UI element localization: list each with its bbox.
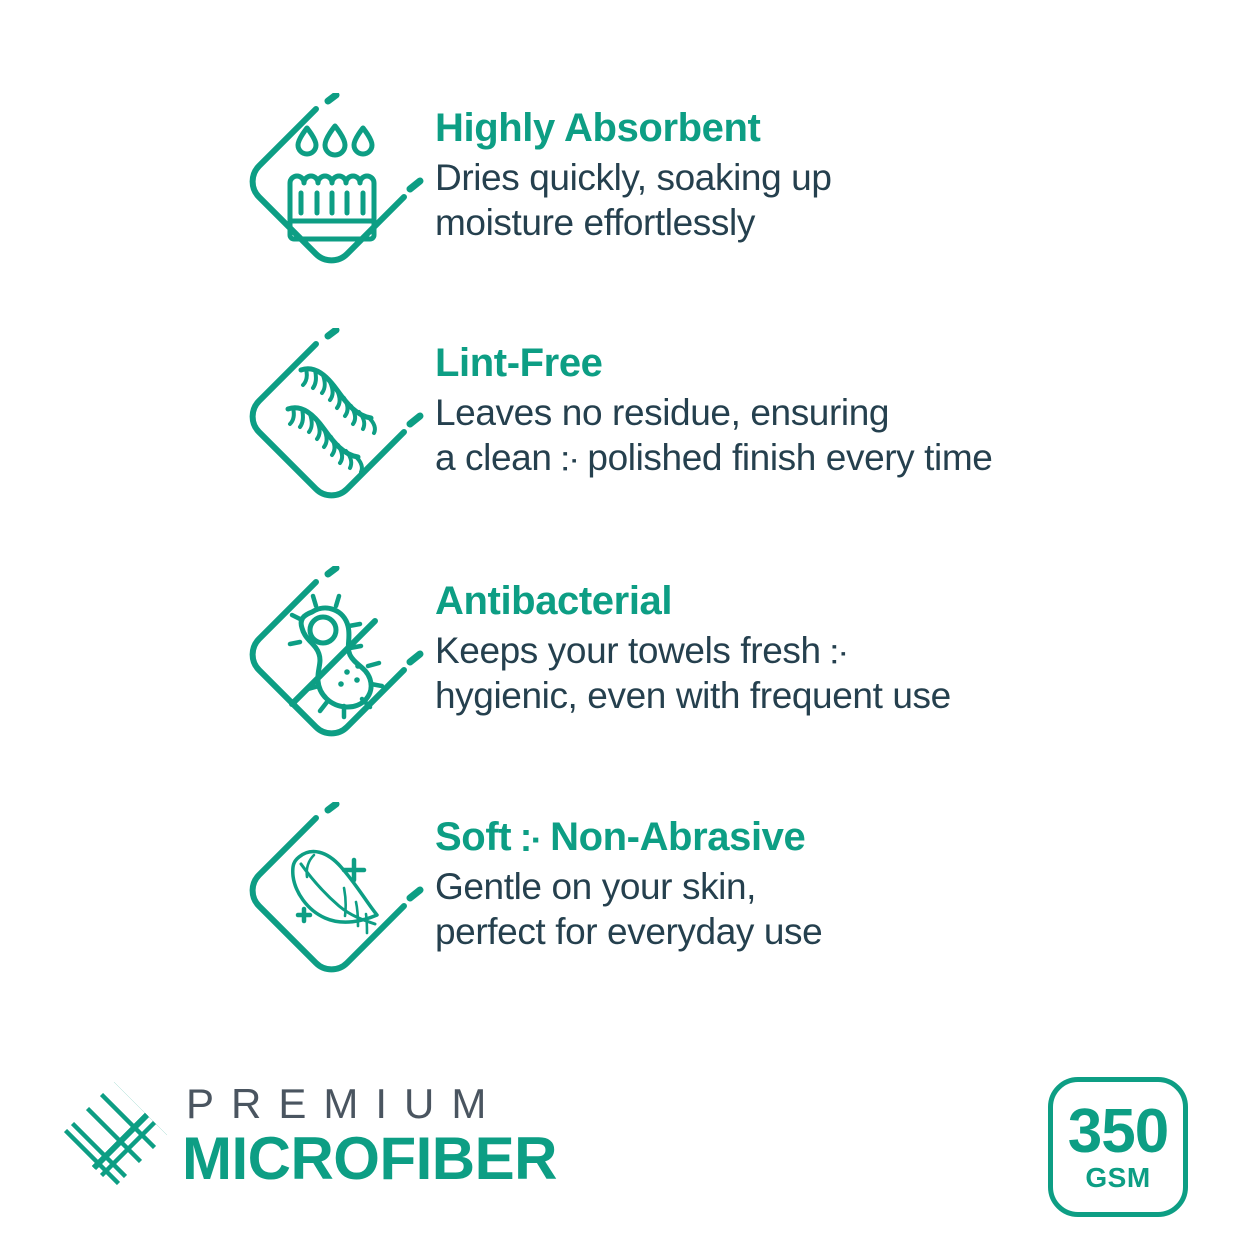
feature-item-soft-non-abrasive: Soft ჻ Non-Abrasive Gentle on your skin,… (244, 802, 822, 992)
feature-text-block: Lint-Free Leaves no residue, ensuring a … (435, 328, 992, 480)
feature-item-antibacterial: Antibacterial Keeps your towels fresh ჻ … (244, 566, 951, 756)
feature-description: Gentle on your skin, perfect for everyda… (435, 864, 822, 954)
feather-sparkle-icon (244, 802, 426, 992)
brand-wordmark: PREMIUM MICROFIBER (182, 1081, 557, 1189)
infographic-page: Highly Absorbent Dries quickly, soaking … (0, 0, 1260, 1260)
gsm-badge: 350 GSM (1048, 1077, 1188, 1217)
absorbent-towel-droplets-icon (244, 93, 426, 283)
feature-item-highly-absorbent: Highly Absorbent Dries quickly, soaking … (244, 93, 832, 283)
feature-title: Soft ჻ Non-Abrasive (435, 812, 822, 862)
feature-title: Antibacterial (435, 576, 951, 626)
feature-description: Keeps your towels fresh ჻ hygienic, even… (435, 628, 951, 718)
feature-text-block: Antibacterial Keeps your towels fresh ჻ … (435, 566, 951, 718)
gsm-value: 350 (1068, 1103, 1168, 1161)
feature-text-block: Soft ჻ Non-Abrasive Gentle on your skin,… (435, 802, 822, 954)
bacteria-crossed-out-icon (244, 566, 426, 756)
feature-title: Lint-Free (435, 338, 992, 388)
woven-diamond-mesh-icon (58, 1079, 170, 1191)
feature-title: Highly Absorbent (435, 103, 832, 153)
brand-microfiber-text: MICROFIBER (182, 1129, 557, 1189)
brand-lockup: PREMIUM MICROFIBER (58, 1079, 557, 1191)
gsm-unit-label: GSM (1085, 1164, 1150, 1192)
feature-description: Leaves no residue, ensuring a clean ჻ po… (435, 390, 992, 480)
feature-text-block: Highly Absorbent Dries quickly, soaking … (435, 93, 832, 245)
feature-description: Dries quickly, soaking up moisture effor… (435, 155, 832, 245)
lint-fibers-icon (244, 328, 426, 518)
brand-premium-text: PREMIUM (182, 1081, 557, 1127)
feature-item-lint-free: Lint-Free Leaves no residue, ensuring a … (244, 328, 992, 518)
